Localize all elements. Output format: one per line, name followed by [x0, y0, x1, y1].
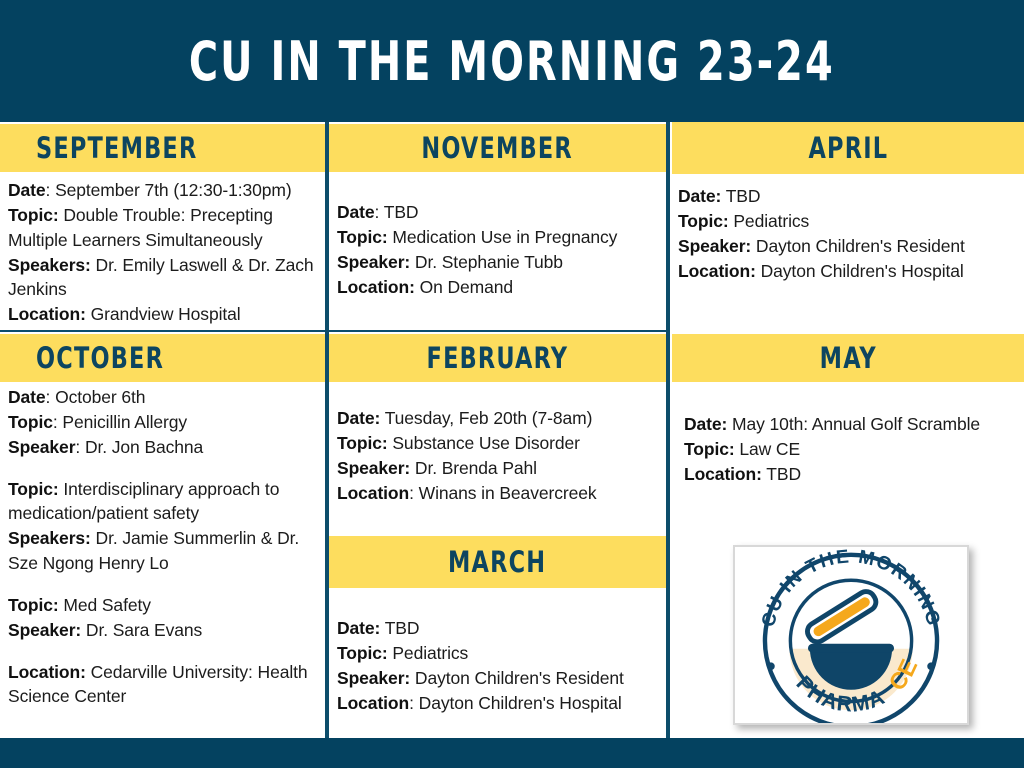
logo-pestle [804, 588, 879, 645]
entry-line: Date: October 6th [8, 385, 320, 410]
entry-line: Location: Dayton Children's Hospital [337, 691, 661, 716]
entry-line: Topic: Medication Use in Pregnancy [337, 225, 661, 250]
entry-line: Date: TBD [337, 616, 661, 641]
entry-line: Location: Dayton Children's Hospital [678, 259, 1022, 284]
entry-line: Location: Cedarville University: Health … [8, 660, 320, 710]
page-title: CU in the Morning 23-24 [189, 30, 835, 93]
entry-line: Topic: Interdisciplinary approach to med… [8, 477, 320, 527]
entry-line: Date: TBD [337, 200, 661, 225]
month-header-march: MARCH [329, 536, 666, 588]
month-header-october: OCTOBER [0, 334, 325, 382]
entry-april: Date: TBD Topic: Pediatrics Speaker: Day… [678, 184, 1022, 283]
month-label-april: APRIL [808, 131, 888, 165]
entry-line: Date: September 7th (12:30-1:30pm) [8, 178, 320, 203]
month-header-april: APRIL [672, 122, 1024, 174]
entry-line: Speakers: Dr. Jamie Summerlin & Dr. Sze … [8, 526, 320, 576]
entry-may: Date: May 10th: Annual Golf Scramble Top… [684, 412, 1004, 487]
entry-line: Speaker: Dayton Children's Resident [337, 666, 661, 691]
entry-line: Topic: Penicillin Allergy [8, 410, 320, 435]
entry-spacer [8, 460, 320, 477]
entry-line: Speaker: Dr. Stephanie Tubb [337, 250, 661, 275]
poster: CU in the Morning 23-24 SEPTEMBER Date: … [0, 0, 1024, 768]
logo-dot-right [927, 662, 935, 670]
entry-line: Topic: Pediatrics [678, 209, 1022, 234]
row-divider-middle-1 [329, 330, 666, 332]
entry-line: Topic: Substance Use Disorder [337, 431, 661, 456]
entry-line: Date: Tuesday, Feb 20th (7-8am) [337, 406, 661, 431]
month-label-march: MARCH [448, 545, 546, 579]
month-header-september: SEPTEMBER [0, 124, 325, 172]
poster-footer-bar [0, 738, 1024, 768]
entry-september: Date: September 7th (12:30-1:30pm) Topic… [8, 178, 320, 327]
entry-line: Speaker: Dr. Sara Evans [8, 618, 320, 643]
poster-title-bar: CU in the Morning 23-24 [0, 0, 1024, 122]
entry-line: Speaker: Dr. Brenda Pahl [337, 456, 661, 481]
entry-november: Date: TBD Topic: Medication Use in Pregn… [337, 200, 661, 299]
month-header-may: MAY [672, 334, 1024, 382]
entry-february: Date: Tuesday, Feb 20th (7-8am) Topic: S… [337, 406, 661, 505]
entry-line: Speaker: Dayton Children's Resident [678, 234, 1022, 259]
entry-line: Topic: Pediatrics [337, 641, 661, 666]
entry-line: Location: TBD [684, 462, 1004, 487]
month-header-february: FEBRUARY [329, 334, 666, 382]
entry-line: Topic: Double Trouble: Precepting Multip… [8, 203, 320, 253]
month-label-february: FEBRUARY [427, 341, 569, 375]
entry-line: Date: TBD [678, 184, 1022, 209]
entry-march: Date: TBD Topic: Pediatrics Speaker: Day… [337, 616, 661, 715]
entry-line: Speakers: Dr. Emily Laswell & Dr. Zach J… [8, 253, 320, 303]
column-left: SEPTEMBER Date: September 7th (12:30-1:3… [0, 122, 325, 738]
entry-line: Date: May 10th: Annual Golf Scramble [684, 412, 1004, 437]
entry-line: Location: On Demand [337, 275, 661, 300]
logo-card: CU IN THE MORNING PHARMA CE [733, 545, 969, 725]
logo-mortar-rim [808, 644, 894, 653]
month-label-may: MAY [819, 341, 876, 375]
logo-dot-left [767, 662, 775, 670]
entry-line: Location: Winans in Beavercreek [337, 481, 661, 506]
entry-line: Topic: Law CE [684, 437, 1004, 462]
month-header-november: NOVEMBER [329, 124, 666, 172]
entry-spacer [8, 643, 320, 660]
month-label-september: SEPTEMBER [36, 131, 197, 165]
entry-line: Speaker: Dr. Jon Bachna [8, 435, 320, 460]
column-middle: NOVEMBER Date: TBD Topic: Medication Use… [329, 122, 666, 738]
entry-line: Location: Grandview Hospital [8, 302, 320, 327]
month-label-november: NOVEMBER [422, 131, 574, 165]
cu-in-the-morning-pharmace-logo: CU IN THE MORNING PHARMA CE [735, 547, 967, 723]
entry-line: Topic: Med Safety [8, 593, 320, 618]
month-label-october: OCTOBER [36, 341, 164, 375]
row-divider-left [0, 330, 325, 332]
entry-spacer [8, 576, 320, 593]
entry-october: Date: October 6th Topic: Penicillin Alle… [8, 385, 320, 709]
